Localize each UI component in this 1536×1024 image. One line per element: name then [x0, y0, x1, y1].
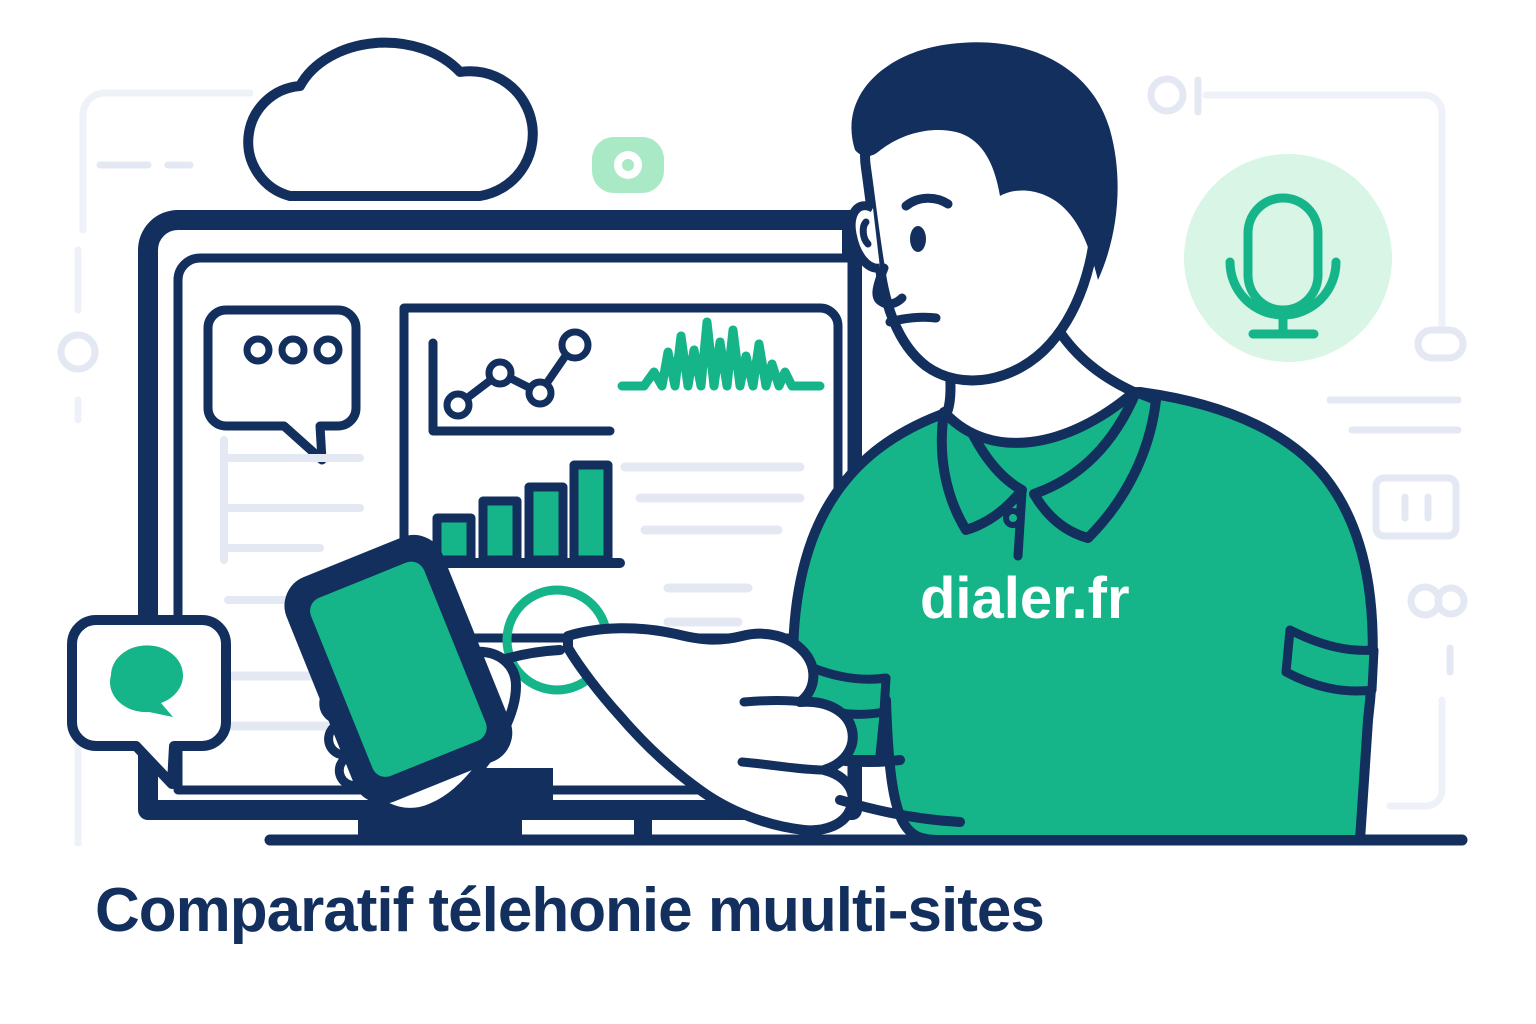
record-badge-icon [592, 137, 664, 193]
eye [910, 226, 926, 252]
circle-outline-top-right [1151, 79, 1183, 111]
circle-outline-left [61, 335, 95, 369]
mouth [890, 317, 936, 322]
bar-chart-bar [483, 501, 517, 560]
typing-dot-3 [317, 339, 339, 361]
page-title: Comparatif télehonie muulti-sites [95, 875, 1044, 946]
shirt-logo: dialer.fr [920, 566, 1130, 631]
card-with-bars-right [1376, 478, 1456, 536]
illustration-canvas: dialer.fr [0, 0, 1536, 1024]
typing-dot-2 [282, 339, 304, 361]
caption-bar: Comparatif télehonie muulti-sites [0, 855, 1536, 965]
bracket-right-lower [1390, 700, 1442, 806]
line-chart-point [562, 332, 588, 358]
dashboard-card [404, 308, 838, 638]
microphone-icon [1184, 154, 1392, 362]
polo-button [1006, 511, 1020, 525]
cloud-icon [248, 43, 533, 196]
line-chart-point [489, 362, 511, 384]
typing-dot-1 [247, 339, 269, 361]
line-chart-point [529, 382, 551, 404]
pill-outline-right [1418, 330, 1463, 358]
bar-chart-bar [574, 465, 608, 560]
finger-crease-1 [744, 701, 804, 703]
bar-chart-bar [529, 487, 563, 560]
line-chart-point [447, 394, 469, 416]
